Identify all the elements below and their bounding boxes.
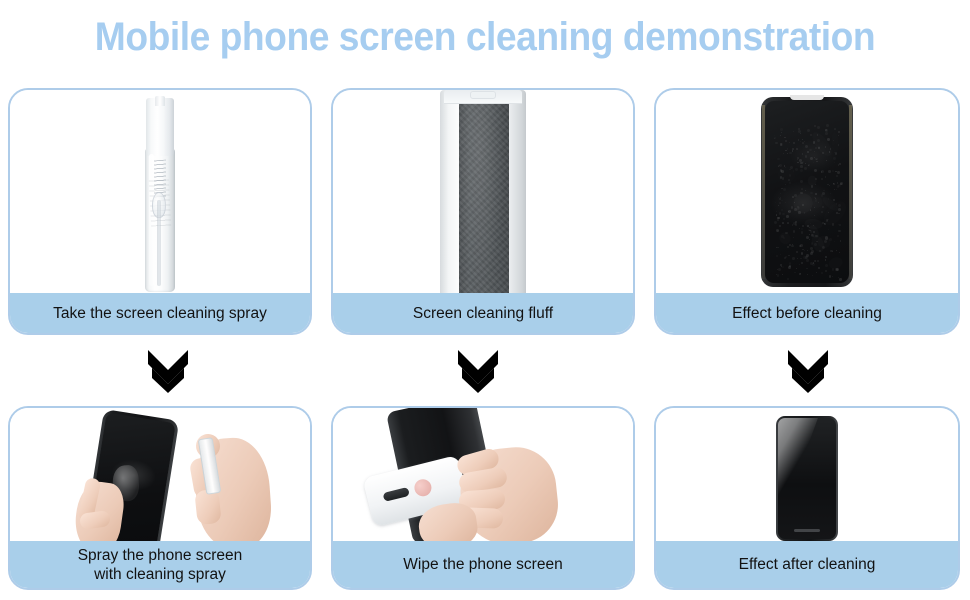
step-1-caption: Take the screen cleaning spray (10, 293, 310, 333)
wiping-phone-illustration (333, 408, 633, 541)
step-3-caption: Effect before cleaning (656, 293, 958, 333)
step-6-caption-line-1: Effect after cleaning (739, 555, 876, 574)
spray-bottle-illustration (143, 96, 177, 292)
step-5-image (333, 408, 633, 541)
step-3-caption-line-1: Effect before cleaning (732, 304, 882, 323)
step-3-image (656, 90, 958, 293)
step-card-5: Wipe the phone screen (331, 406, 635, 590)
step-5-caption-line-1: Wipe the phone screen (403, 555, 562, 574)
step-4-image (10, 408, 310, 541)
step-6-image (656, 408, 958, 541)
step-5-caption: Wipe the phone screen (333, 541, 633, 588)
page-title: Mobile phone screen cleaning demonstrati… (34, 14, 936, 60)
step-card-1: Take the screen cleaning spray (8, 88, 312, 335)
step-4-caption-line-1: Spray the phone screen (78, 546, 243, 565)
step-card-4: Spray the phone screen with cleaning spr… (8, 406, 312, 590)
step-2-image (333, 90, 633, 293)
double-chevron-down-icon (456, 348, 500, 394)
double-chevron-down-icon (146, 348, 190, 394)
step-6-caption: Effect after cleaning (656, 541, 958, 588)
step-2-caption-line-1: Screen cleaning fluff (413, 304, 553, 323)
step-4-caption: Spray the phone screen with cleaning spr… (10, 541, 310, 588)
step-1-caption-line-1: Take the screen cleaning spray (53, 304, 267, 323)
dirty-phone-illustration (761, 97, 853, 287)
clean-phone-illustration (776, 416, 838, 541)
step-4-caption-line-2: with cleaning spray (94, 565, 226, 584)
step-card-6: Effect after cleaning (654, 406, 960, 590)
spraying-phone-illustration (10, 408, 310, 541)
step-2-caption: Screen cleaning fluff (333, 293, 633, 333)
double-chevron-down-icon (786, 348, 830, 394)
cleaning-fluff-illustration (440, 90, 526, 293)
step-card-3: Effect before cleaning (654, 88, 960, 335)
step-card-2: Screen cleaning fluff (331, 88, 635, 335)
step-1-image (10, 90, 310, 293)
